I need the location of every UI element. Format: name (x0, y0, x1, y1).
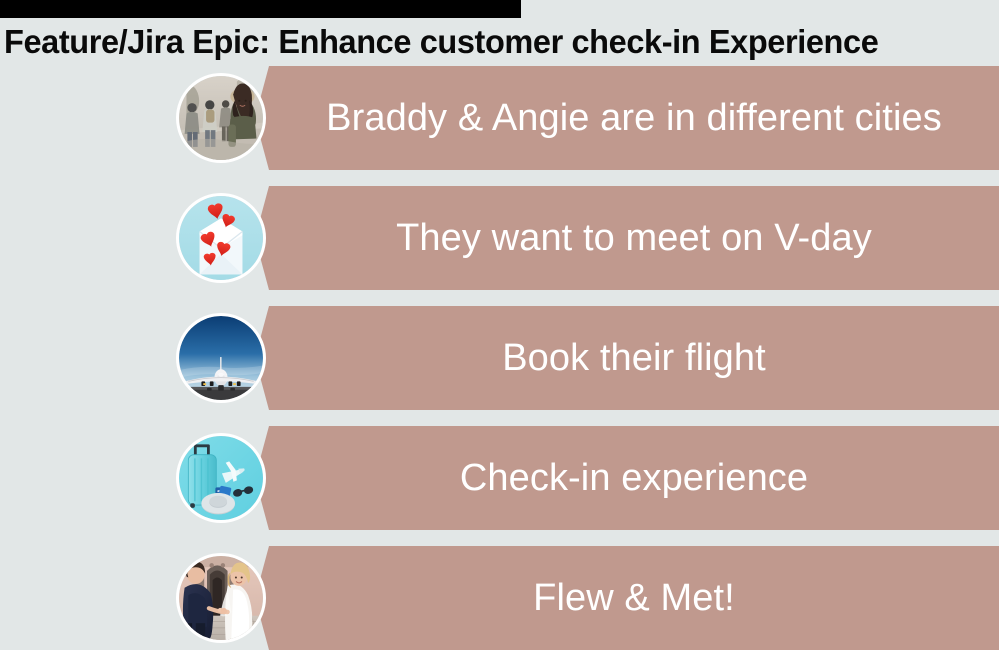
step-label: Book their flight (482, 339, 772, 377)
title-accent-bar (0, 0, 521, 18)
step-banner[interactable]: Book their flight (255, 306, 999, 410)
suitcase-travel-items-photo-icon (176, 433, 266, 523)
couple-holding-hands-photo-icon (176, 553, 266, 643)
love-letter-hearts-photo-icon (176, 193, 266, 283)
page-title: Feature/Jira Epic: Enhance customer chec… (4, 22, 979, 62)
step-banner[interactable]: Check-in experience (255, 426, 999, 530)
step-label: Flew & Met! (513, 579, 741, 617)
step-label: Braddy & Angie are in different cities (306, 99, 948, 137)
slide-canvas: Feature/Jira Epic: Enhance customer chec… (0, 0, 999, 649)
step-row[interactable]: Check-in experience (0, 426, 999, 530)
people-walking-street-photo-icon (176, 73, 266, 163)
step-row[interactable]: They want to meet on V-day (0, 186, 999, 290)
step-row[interactable]: Flew & Met! (0, 546, 999, 650)
step-banner[interactable]: Flew & Met! (255, 546, 999, 650)
step-row[interactable]: Book their flight (0, 306, 999, 410)
step-banner[interactable]: They want to meet on V-day (255, 186, 999, 290)
step-label: They want to meet on V-day (376, 219, 878, 257)
step-label: Check-in experience (440, 459, 814, 497)
step-banner[interactable]: Braddy & Angie are in different cities (255, 66, 999, 170)
step-row[interactable]: Braddy & Angie are in different cities (0, 66, 999, 170)
airplane-sky-photo-icon (176, 313, 266, 403)
